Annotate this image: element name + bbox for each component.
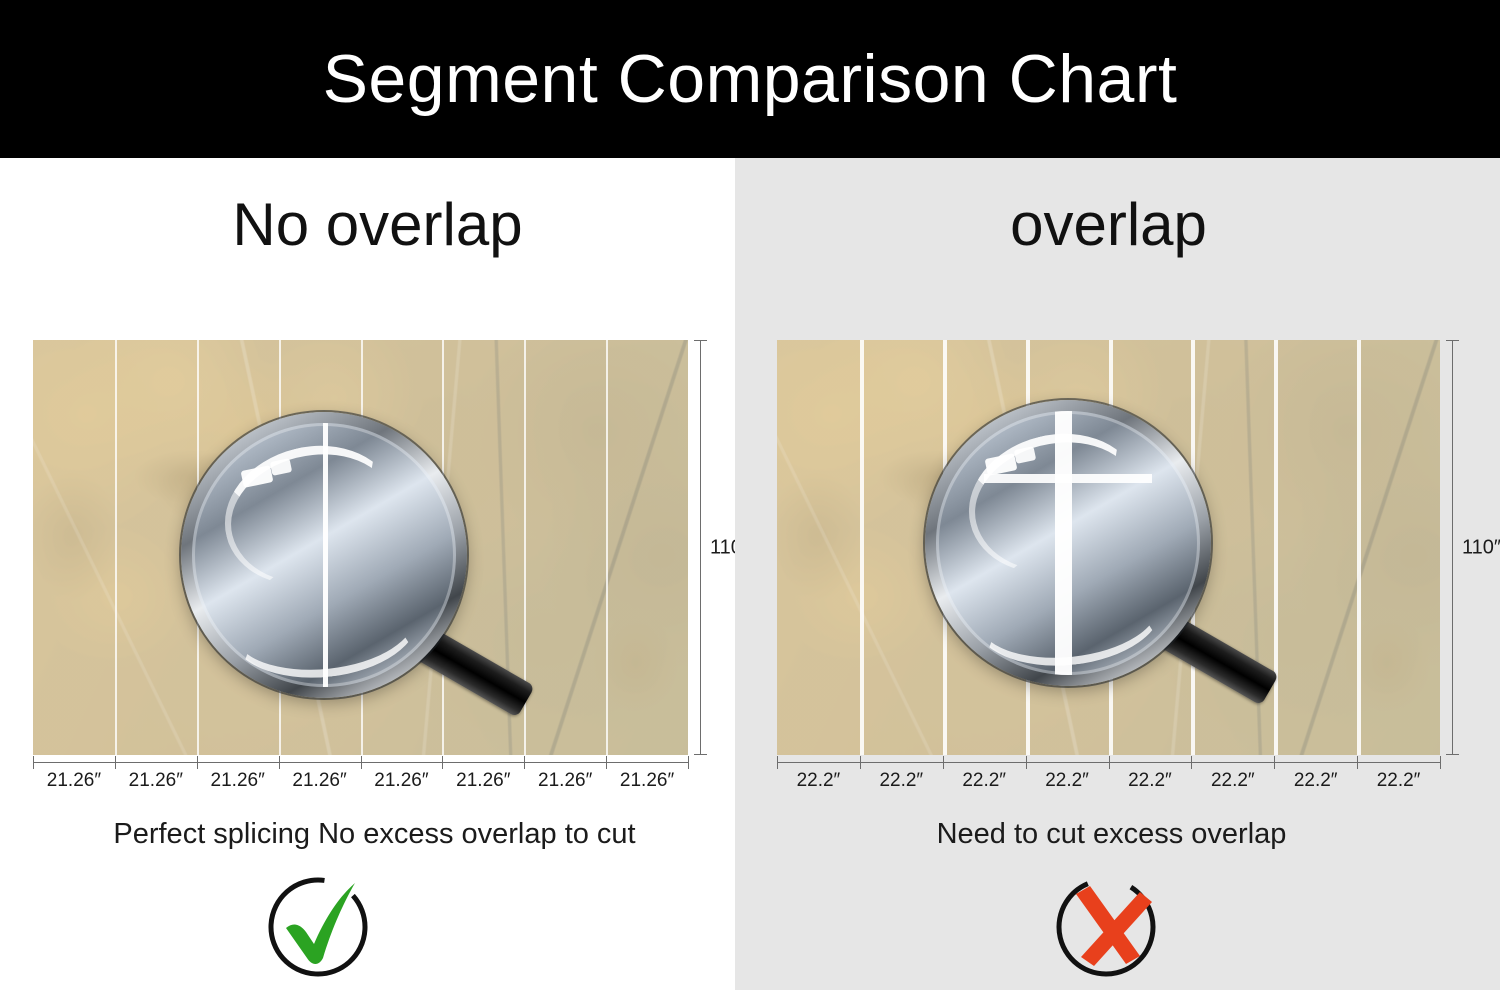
dimension-tick (1026, 756, 1027, 769)
segment-label: 21.26″ (47, 770, 101, 792)
dimension-tick (279, 756, 280, 769)
segment-label: 22.2″ (1294, 770, 1338, 792)
seam-line-overlap (943, 340, 947, 755)
dimension-tick (1440, 756, 1441, 769)
dimension-tick (777, 756, 778, 769)
panel-seams-left (33, 340, 688, 755)
mural-image-left (33, 340, 688, 755)
dimension-tick (33, 756, 34, 769)
verdict-badge-check (262, 870, 374, 982)
segment-label: 22.2″ (962, 770, 1006, 792)
dimension-tick (606, 756, 607, 769)
seam-line (361, 340, 363, 755)
segment-label: 22.2″ (879, 770, 923, 792)
segment-label: 22.2″ (1128, 770, 1172, 792)
segment-label: 22.2″ (1211, 770, 1255, 792)
dimension-tick (688, 756, 689, 769)
segment-label: 21.26″ (374, 770, 428, 792)
dimension-tick (1446, 340, 1459, 341)
panel-heading-overlap: overlap (735, 190, 1500, 259)
seam-line-overlap (1274, 340, 1278, 755)
seam-line-overlap (1357, 340, 1361, 755)
seam-line (442, 340, 444, 755)
mural-overlap: 110″ 22.2″ 22.2″ 22.2″ 22.2″ 22.2″ 22.2″ (777, 340, 1440, 755)
seam-line (115, 340, 117, 755)
seam-line-overlap (1026, 340, 1030, 755)
dimension-tick (1446, 754, 1459, 755)
segment-label: 22.2″ (797, 770, 841, 792)
dimension-tick (943, 756, 944, 769)
dimension-tick (860, 756, 861, 769)
red-cross-icon (1050, 870, 1162, 982)
seam-line-overlap (860, 340, 864, 755)
segment-label: 22.2″ (1377, 770, 1421, 792)
dimension-tick (1274, 756, 1275, 769)
segment-label: 21.26″ (538, 770, 592, 792)
dimension-tick (694, 340, 707, 341)
dimension-tick (524, 756, 525, 769)
panel-seams-right (777, 340, 1440, 755)
caption-overlap: Need to cut excess overlap (735, 818, 1500, 851)
dimension-tick (1109, 756, 1110, 769)
dimension-tick (361, 756, 362, 769)
height-label-right: 110″ (1462, 536, 1500, 559)
dimension-tick (694, 754, 707, 755)
seam-line (524, 340, 526, 755)
infographic-root: Segment Comparison Chart No overlap (0, 0, 1500, 990)
segment-label: 21.26″ (211, 770, 265, 792)
panel-no-overlap: No overlap (0, 158, 735, 990)
seam-line-overlap (1109, 340, 1113, 755)
dimension-line (700, 340, 701, 755)
segment-label: 21.26″ (129, 770, 183, 792)
mural-image-right (777, 340, 1440, 755)
segment-label: 22.2″ (1045, 770, 1089, 792)
seam-line (279, 340, 281, 755)
segment-label: 21.26″ (456, 770, 510, 792)
dimension-tick (115, 756, 116, 769)
dimension-line (1452, 340, 1453, 755)
caption-no-overlap: Perfect splicing No excess overlap to cu… (0, 818, 735, 851)
verdict-badge-cross (1050, 870, 1162, 982)
dimension-tick (1357, 756, 1358, 769)
segment-label: 21.26″ (620, 770, 674, 792)
seam-line (197, 340, 199, 755)
panel-overlap: overlap (735, 158, 1500, 990)
dimension-tick (197, 756, 198, 769)
dimension-tick (1191, 756, 1192, 769)
seam-line (606, 340, 608, 755)
page-title: Segment Comparison Chart (323, 45, 1178, 113)
mural-no-overlap: 110″ 21.26″ 21.26″ 21.26″ 21.26″ 21.26″ (33, 340, 688, 755)
title-bar: Segment Comparison Chart (0, 0, 1500, 158)
seam-line-overlap (1191, 340, 1195, 755)
green-check-icon (262, 870, 374, 982)
segment-label: 21.26″ (292, 770, 346, 792)
dimension-tick (442, 756, 443, 769)
panel-heading-no-overlap: No overlap (0, 190, 735, 259)
